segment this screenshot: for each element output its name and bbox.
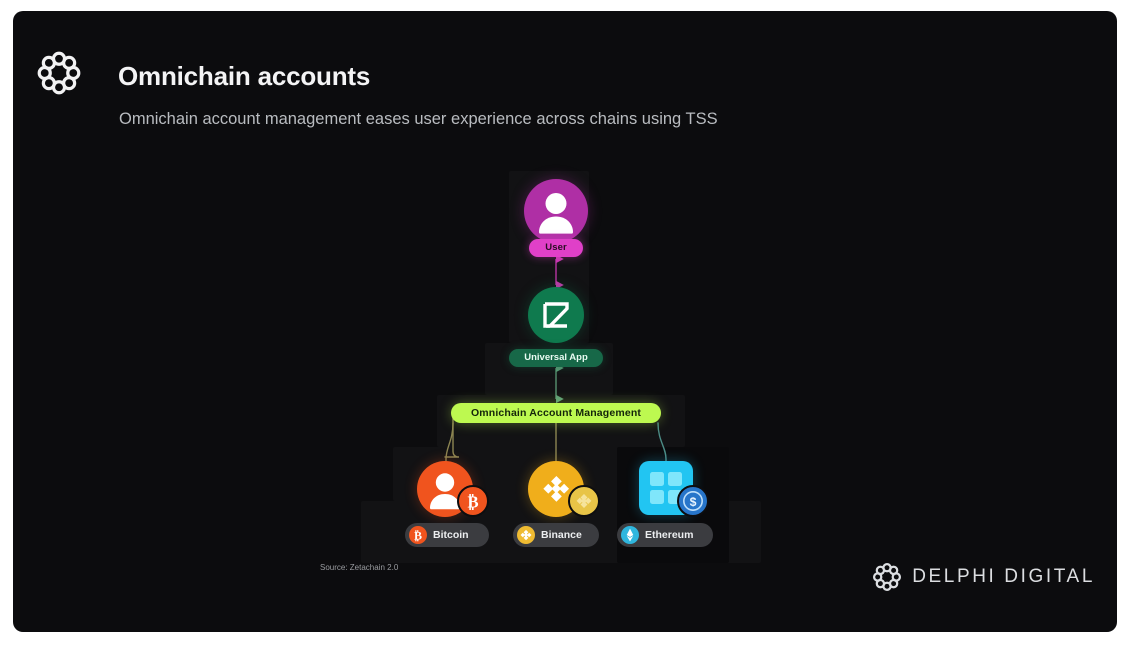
slide-card: Omnichain accounts Omnichain account man… [13,11,1117,632]
label-binance-text: Binance [541,530,582,541]
footer-wordmark: DELPHI DIGITAL [912,566,1095,588]
delphi-chain-ring-icon [872,562,902,592]
bnb-coin-icon [568,485,600,517]
footer-logo: DELPHI DIGITAL [872,562,1095,592]
label-binance[interactable]: Binance [513,523,599,547]
svg-text:$: $ [690,495,697,509]
node-binance[interactable] [528,461,606,517]
ethereum-icon [621,526,639,544]
bnb-coin-icon [517,526,535,544]
label-user-text: User [545,243,567,253]
label-universal-app[interactable]: Universal App [509,349,603,367]
node-ethereum[interactable]: $ [639,461,717,517]
node-zetachain[interactable] [528,287,584,343]
usdc-dollar-coin-icon: $ [677,485,709,517]
label-ethereum[interactable]: Ethereum [617,523,713,547]
node-bitcoin[interactable]: ₿ [417,461,495,517]
label-bitcoin-text: Bitcoin [433,530,469,541]
zetachain-z-icon [528,287,584,343]
omnichain-accounts-diagram: User Universal App Omnichain Account Man… [13,11,1117,632]
node-user[interactable] [524,179,588,243]
label-universal-app-text: Universal App [524,353,588,363]
label-user[interactable]: User [529,239,583,257]
label-ethereum-text: Ethereum [645,530,693,541]
svg-text:₿: ₿ [414,529,422,543]
bitcoin-icon: ₿ [457,485,489,517]
svg-text:₿: ₿ [467,493,478,512]
source-note: Source: Zetachain 2.0 [320,563,398,572]
label-omnichain-account-management-text: Omnichain Account Management [471,408,641,419]
label-bitcoin[interactable]: ₿ Bitcoin [405,523,489,547]
user-avatar-icon [524,179,588,243]
label-omnichain-account-management[interactable]: Omnichain Account Management [451,403,661,423]
bitcoin-icon: ₿ [409,526,427,544]
